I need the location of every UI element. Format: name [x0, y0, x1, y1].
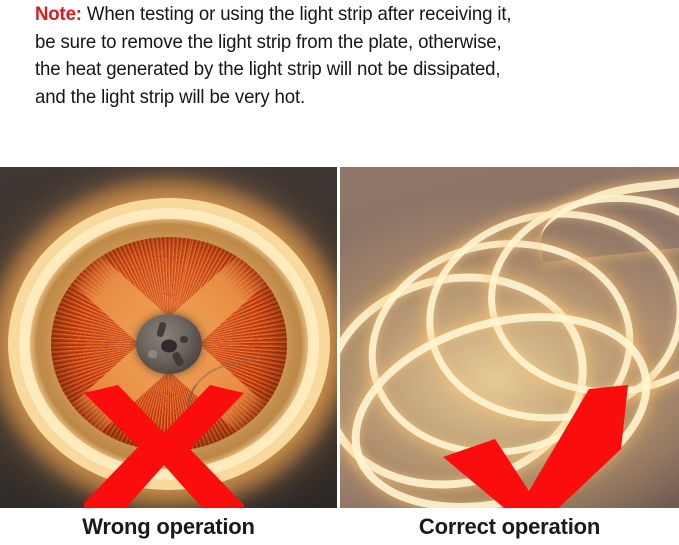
- note-line-1-text: When testing or using the light strip af…: [87, 3, 512, 25]
- note-block: Note: When testing or using the light st…: [35, 1, 641, 111]
- note-label: Note:: [35, 3, 82, 25]
- instruction-card: Note: When testing or using the light st…: [0, 0, 679, 545]
- reel-hub-nub: [171, 351, 185, 367]
- caption-wrong-operation: Wrong operation: [0, 514, 337, 540]
- note-line-4: and the light strip will be very hot.: [35, 84, 614, 112]
- caption-correct-operation: Correct operation: [340, 514, 679, 540]
- note-line-2: be sure to remove the light strip from t…: [35, 29, 614, 57]
- comparison-photo-strip: [0, 167, 679, 508]
- note-line-3: the heat generated by the light strip wi…: [35, 56, 614, 84]
- photo-panel-correct: [340, 167, 679, 508]
- led-strip-tail: [536, 177, 679, 262]
- reel-hub-nub: [148, 350, 157, 358]
- reel-hub-nub: [180, 336, 188, 343]
- reel-hub-nub: [156, 322, 167, 338]
- cross-mark-icon: [84, 385, 244, 508]
- caption-row: Wrong operation Correct operation: [0, 508, 679, 545]
- check-mark-icon: [443, 379, 628, 508]
- photo-panel-wrong: [0, 167, 337, 508]
- note-line-1: Note: When testing or using the light st…: [35, 1, 614, 29]
- reel-hub: [136, 314, 202, 374]
